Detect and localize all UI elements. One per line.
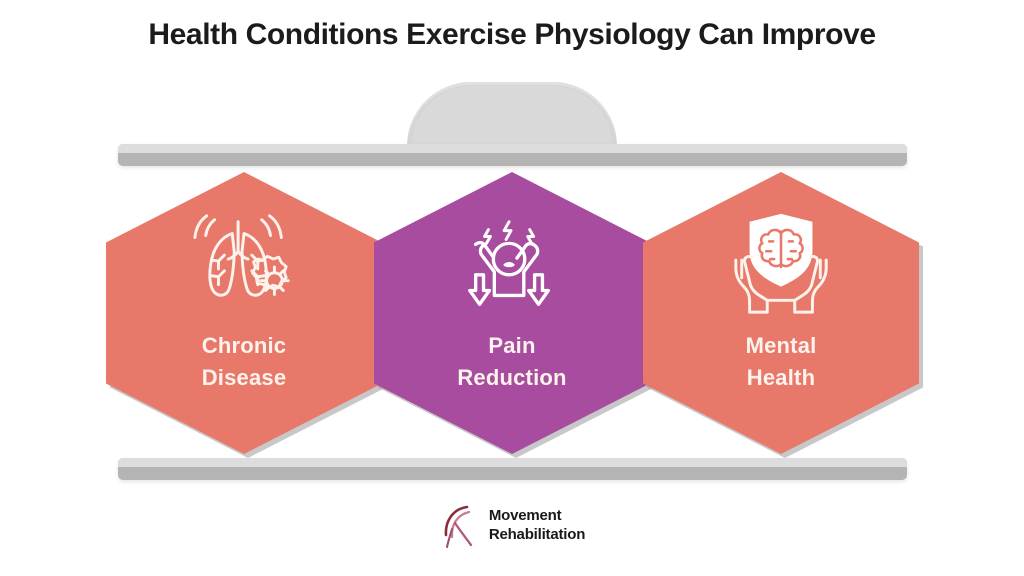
brand-logo-line2: Rehabilitation xyxy=(489,526,585,545)
bottom-bar xyxy=(118,458,907,480)
hex-body: Mental Health xyxy=(643,172,919,454)
hex-card-label: Mental Health xyxy=(746,330,817,394)
stressed-person-icon xyxy=(453,208,571,318)
hexagon-row: Chronic Disease Pain Reduction xyxy=(0,170,1024,460)
lungs-virus-icon xyxy=(185,208,303,318)
hex-card-label-line2: Health xyxy=(746,362,817,394)
bottom-bar-highlight xyxy=(118,458,907,467)
hex-body: Chronic Disease xyxy=(106,172,382,454)
movement-rehabilitation-logo-mark xyxy=(439,503,479,549)
top-bar xyxy=(118,144,907,166)
hex-card-mental-health[interactable]: Mental Health xyxy=(643,170,919,456)
hex-card-label: Pain Reduction xyxy=(457,330,566,394)
brand-logo: Movement Rehabilitation xyxy=(0,503,1024,549)
hands-brain-shield-icon xyxy=(722,208,840,318)
page-title: Health Conditions Exercise Physiology Ca… xyxy=(0,18,1024,52)
brand-logo-line1: Movement xyxy=(489,507,562,524)
hex-card-pain-reduction[interactable]: Pain Reduction xyxy=(374,170,650,456)
hex-card-label-line2: Reduction xyxy=(457,362,566,394)
dome-inner-shape xyxy=(412,86,612,146)
hex-card-label-line2: Disease xyxy=(202,362,287,394)
hex-card-label-line1: Mental xyxy=(746,333,817,358)
hex-card-label: Chronic Disease xyxy=(202,330,287,394)
dome-shape xyxy=(407,82,617,146)
hex-body: Pain Reduction xyxy=(374,172,650,454)
top-bar-highlight xyxy=(118,144,907,153)
hex-card-chronic-disease[interactable]: Chronic Disease xyxy=(106,170,382,456)
brand-logo-text: Movement Rehabilitation xyxy=(489,507,585,545)
hex-card-label-line1: Pain xyxy=(488,333,535,358)
hex-card-label-line1: Chronic xyxy=(202,333,287,358)
